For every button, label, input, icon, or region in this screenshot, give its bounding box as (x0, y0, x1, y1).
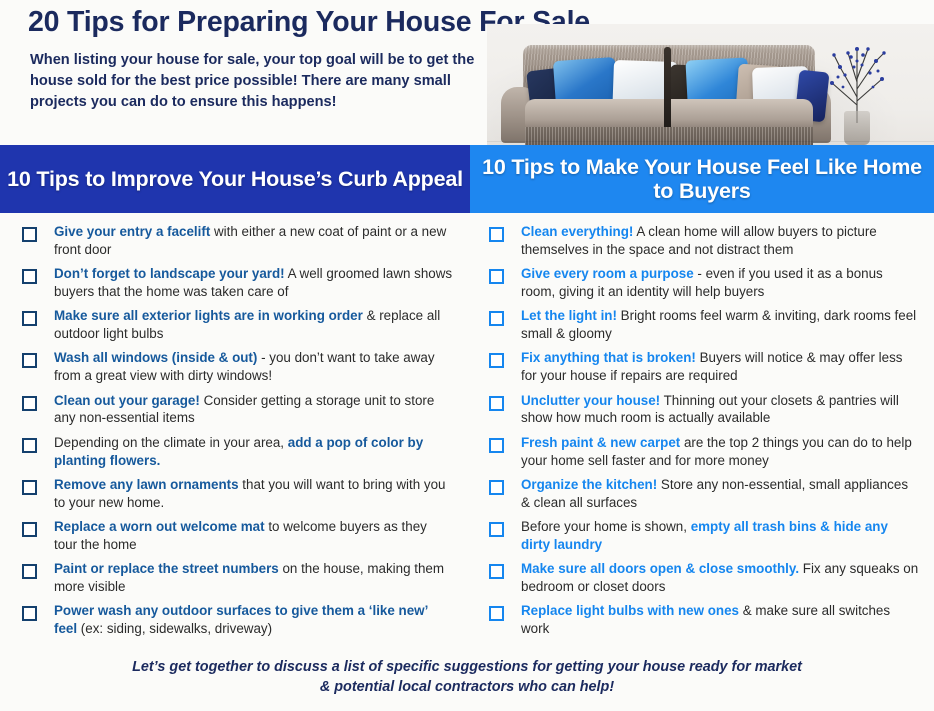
tip-highlight: Clean everything! (521, 224, 633, 239)
checkbox-icon[interactable] (489, 353, 504, 368)
tip-item[interactable]: Depending on the climate in your area, a… (22, 434, 453, 470)
checkbox-icon[interactable] (489, 227, 504, 242)
vase-with-branches-icon (810, 27, 906, 145)
tip-text: Wash all windows (inside & out) - you do… (54, 349, 453, 385)
tip-highlight: empty all trash bins & hide any dirty la… (521, 519, 888, 552)
tip-item[interactable]: Give every room a purpose - even if you … (489, 265, 920, 301)
tip-highlight: Clean out your garage! (54, 393, 200, 408)
tips-columns: Give your entry a facelift with either a… (0, 213, 934, 653)
tip-text: Paint or replace the street numbers on t… (54, 560, 453, 596)
checkbox-icon[interactable] (22, 396, 37, 411)
tip-text: Fresh paint & new carpet are the top 2 t… (521, 434, 920, 470)
tip-item[interactable]: Power wash any outdoor surfaces to give … (22, 602, 453, 638)
tip-text: Clean out your garage! Consider getting … (54, 392, 453, 428)
tip-text: Replace light bulbs with new ones & make… (521, 602, 920, 638)
tip-item[interactable]: Remove any lawn ornaments that you will … (22, 476, 453, 512)
tip-item[interactable]: Clean everything! A clean home will allo… (489, 223, 920, 259)
tip-highlight: Wash all windows (inside & out) (54, 350, 257, 365)
tip-item[interactable]: Wash all windows (inside & out) - you do… (22, 349, 453, 385)
tip-highlight: Make sure all exterior lights are in wor… (54, 308, 363, 323)
infographic-page: 20 Tips for Preparing Your House For Sal… (0, 0, 934, 711)
feel-like-home-tips-list: Clean everything! A clean home will allo… (467, 213, 934, 653)
footer-call-to-action: Let’s get together to discuss a list of … (0, 658, 934, 698)
tip-text: Unclutter your house! Thinning out your … (521, 392, 920, 428)
curb-appeal-tips-list: Give your entry a facelift with either a… (0, 213, 467, 653)
footer-line-1: Let’s get together to discuss a list of … (0, 658, 934, 678)
glass-vase (844, 111, 870, 145)
sofa-icon (501, 45, 831, 145)
tip-text: Replace a worn out welcome mat to welcom… (54, 518, 453, 554)
tip-text: Give your entry a facelift with either a… (54, 223, 453, 259)
footer-line-2: & potential local contractors who can he… (0, 678, 934, 698)
tip-item[interactable]: Organize the kitchen! Store any non-esse… (489, 476, 920, 512)
tip-item[interactable]: Let the light in! Bright rooms feel warm… (489, 307, 920, 343)
intro-paragraph: When listing your house for sale, your t… (30, 50, 482, 113)
tip-item[interactable]: Unclutter your house! Thinning out your … (489, 392, 920, 428)
checkbox-icon[interactable] (489, 311, 504, 326)
banner-feel-like-home: 10 Tips to Make Your House Feel Like Hom… (470, 145, 934, 213)
tip-highlight: Paint or replace the street numbers (54, 561, 279, 576)
checkbox-icon[interactable] (22, 438, 37, 453)
tip-item[interactable]: Make sure all doors open & close smoothl… (489, 560, 920, 596)
tip-item[interactable]: Make sure all exterior lights are in wor… (22, 307, 453, 343)
tip-item[interactable]: Clean out your garage! Consider getting … (22, 392, 453, 428)
tip-highlight: Let the light in! (521, 308, 617, 323)
checkbox-icon[interactable] (489, 269, 504, 284)
tip-text: Organize the kitchen! Store any non-esse… (521, 476, 920, 512)
tip-item[interactable]: Fix anything that is broken! Buyers will… (489, 349, 920, 385)
checkbox-icon[interactable] (489, 522, 504, 537)
checkbox-icon[interactable] (22, 227, 37, 242)
living-room-sofa-photo (487, 24, 934, 145)
tip-item[interactable]: Replace light bulbs with new ones & make… (489, 602, 920, 638)
tip-item[interactable]: Before your home is shown, empty all tra… (489, 518, 920, 554)
tip-highlight: Replace a worn out welcome mat (54, 519, 265, 534)
sofa-base (525, 127, 813, 145)
tip-highlight: Fresh paint & new carpet (521, 435, 680, 450)
blue-branches-icon (810, 27, 906, 123)
tip-text: Depending on the climate in your area, a… (54, 434, 453, 470)
checkbox-icon[interactable] (22, 269, 37, 284)
tip-text: Remove any lawn ornaments that you will … (54, 476, 453, 512)
checkbox-icon[interactable] (22, 353, 37, 368)
header-section: 20 Tips for Preparing Your House For Sal… (0, 0, 934, 145)
tip-text: Let the light in! Bright rooms feel warm… (521, 307, 920, 343)
tip-item[interactable]: Fresh paint & new carpet are the top 2 t… (489, 434, 920, 470)
floor-line (487, 141, 934, 142)
sofa-center-shadow (664, 47, 671, 131)
checkbox-icon[interactable] (489, 396, 504, 411)
tip-highlight: Make sure all doors open & close smoothl… (521, 561, 799, 576)
tip-item[interactable]: Paint or replace the street numbers on t… (22, 560, 453, 596)
checkbox-icon[interactable] (22, 606, 37, 621)
checkbox-icon[interactable] (22, 480, 37, 495)
tip-text: Don’t forget to landscape your yard! A w… (54, 265, 453, 301)
tip-highlight: Power wash any outdoor surfaces to give … (54, 603, 428, 636)
tip-highlight: Fix anything that is broken! (521, 350, 696, 365)
checkbox-icon[interactable] (489, 438, 504, 453)
tip-text: Make sure all doors open & close smoothl… (521, 560, 920, 596)
tip-highlight: Unclutter your house! (521, 393, 660, 408)
tip-text: Give every room a purpose - even if you … (521, 265, 920, 301)
checkbox-icon[interactable] (489, 606, 504, 621)
tip-highlight: add a pop of color by planting flowers. (54, 435, 423, 468)
tip-highlight: Organize the kitchen! (521, 477, 657, 492)
banner-curb-appeal: 10 Tips to Improve Your House’s Curb App… (0, 145, 470, 213)
tip-highlight: Replace light bulbs with new ones (521, 603, 739, 618)
banner-left-title: 10 Tips to Improve Your House’s Curb App… (7, 167, 463, 191)
tip-highlight: Give every room a purpose (521, 266, 694, 281)
checkbox-icon[interactable] (22, 522, 37, 537)
tip-highlight: Remove any lawn ornaments (54, 477, 239, 492)
checkbox-icon[interactable] (489, 564, 504, 579)
tip-text: Before your home is shown, empty all tra… (521, 518, 920, 554)
checkbox-icon[interactable] (489, 480, 504, 495)
tip-text: Make sure all exterior lights are in wor… (54, 307, 453, 343)
banner-right-title: 10 Tips to Make Your House Feel Like Hom… (470, 155, 934, 203)
tip-text: Power wash any outdoor surfaces to give … (54, 602, 453, 638)
tip-text: Clean everything! A clean home will allo… (521, 223, 920, 259)
tip-highlight: Give your entry a facelift (54, 224, 210, 239)
checkbox-icon[interactable] (22, 564, 37, 579)
tip-text: Fix anything that is broken! Buyers will… (521, 349, 920, 385)
tip-item[interactable]: Give your entry a facelift with either a… (22, 223, 453, 259)
tip-item[interactable]: Don’t forget to landscape your yard! A w… (22, 265, 453, 301)
checkbox-icon[interactable] (22, 311, 37, 326)
tip-item[interactable]: Replace a worn out welcome mat to welcom… (22, 518, 453, 554)
tip-highlight: Don’t forget to landscape your yard! (54, 266, 285, 281)
